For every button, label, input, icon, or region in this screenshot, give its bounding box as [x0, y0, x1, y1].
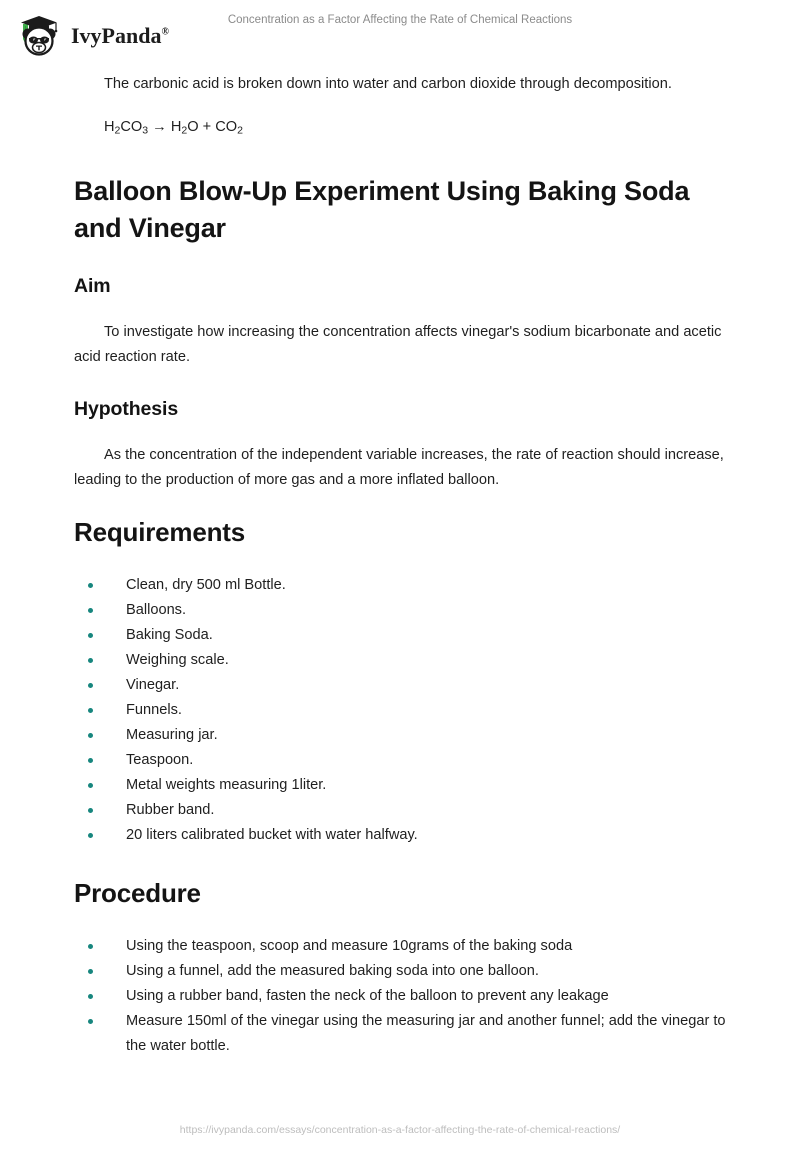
list-item: Rubber band. — [74, 798, 726, 823]
page-header: IvyPanda® Concentration as a Factor Affe… — [0, 0, 800, 72]
section-heading-aim: Aim — [74, 273, 726, 300]
section-heading-hypothesis: Hypothesis — [74, 396, 726, 423]
document-content: The carbonic acid is broken down into wa… — [74, 72, 726, 1059]
document-running-title: Concentration as a Factor Affecting the … — [0, 14, 800, 26]
page-title: Balloon Blow-Up Experiment Using Baking … — [74, 173, 726, 247]
document-page: IvyPanda® Concentration as a Factor Affe… — [0, 0, 800, 1160]
list-item: Clean, dry 500 ml Bottle. — [74, 573, 726, 598]
list-item: Baking Soda. — [74, 623, 726, 648]
list-item: Using the teaspoon, scoop and measure 10… — [74, 934, 726, 959]
brand-name: IvyPanda® — [71, 25, 169, 47]
list-item: Weighing scale. — [74, 648, 726, 673]
list-item: Metal weights measuring 1liter. — [74, 773, 726, 798]
list-item: Measuring jar. — [74, 723, 726, 748]
brand-name-text: IvyPanda — [71, 23, 161, 48]
section-paragraph-hypothesis: As the concentration of the independent … — [74, 443, 726, 493]
requirements-list: Clean, dry 500 ml Bottle. Balloons. Baki… — [74, 573, 726, 848]
list-item: Balloons. — [74, 598, 726, 623]
source-url-link[interactable]: https://ivypanda.com/essays/concentratio… — [0, 1124, 800, 1136]
registered-mark-icon: ® — [161, 27, 168, 38]
list-item: Measure 150ml of the vinegar using the m… — [74, 1009, 726, 1059]
chemical-equation: H2CO3 → H2O + CO2 — [74, 115, 726, 143]
list-item: Using a rubber band, fasten the neck of … — [74, 984, 726, 1009]
list-item: 20 liters calibrated bucket with water h… — [74, 823, 726, 848]
section-paragraph-aim: To investigate how increasing the concen… — [74, 320, 726, 370]
list-item: Vinegar. — [74, 673, 726, 698]
page-footer: https://ivypanda.com/essays/concentratio… — [0, 1114, 800, 1160]
intro-paragraph: The carbonic acid is broken down into wa… — [74, 72, 726, 97]
list-item: Teaspoon. — [74, 748, 726, 773]
list-item: Funnels. — [74, 698, 726, 723]
section-heading-requirements: Requirements — [74, 515, 726, 549]
section-heading-procedure: Procedure — [74, 876, 726, 910]
procedure-list: Using the teaspoon, scoop and measure 10… — [74, 934, 726, 1059]
list-item: Using a funnel, add the measured baking … — [74, 959, 726, 984]
